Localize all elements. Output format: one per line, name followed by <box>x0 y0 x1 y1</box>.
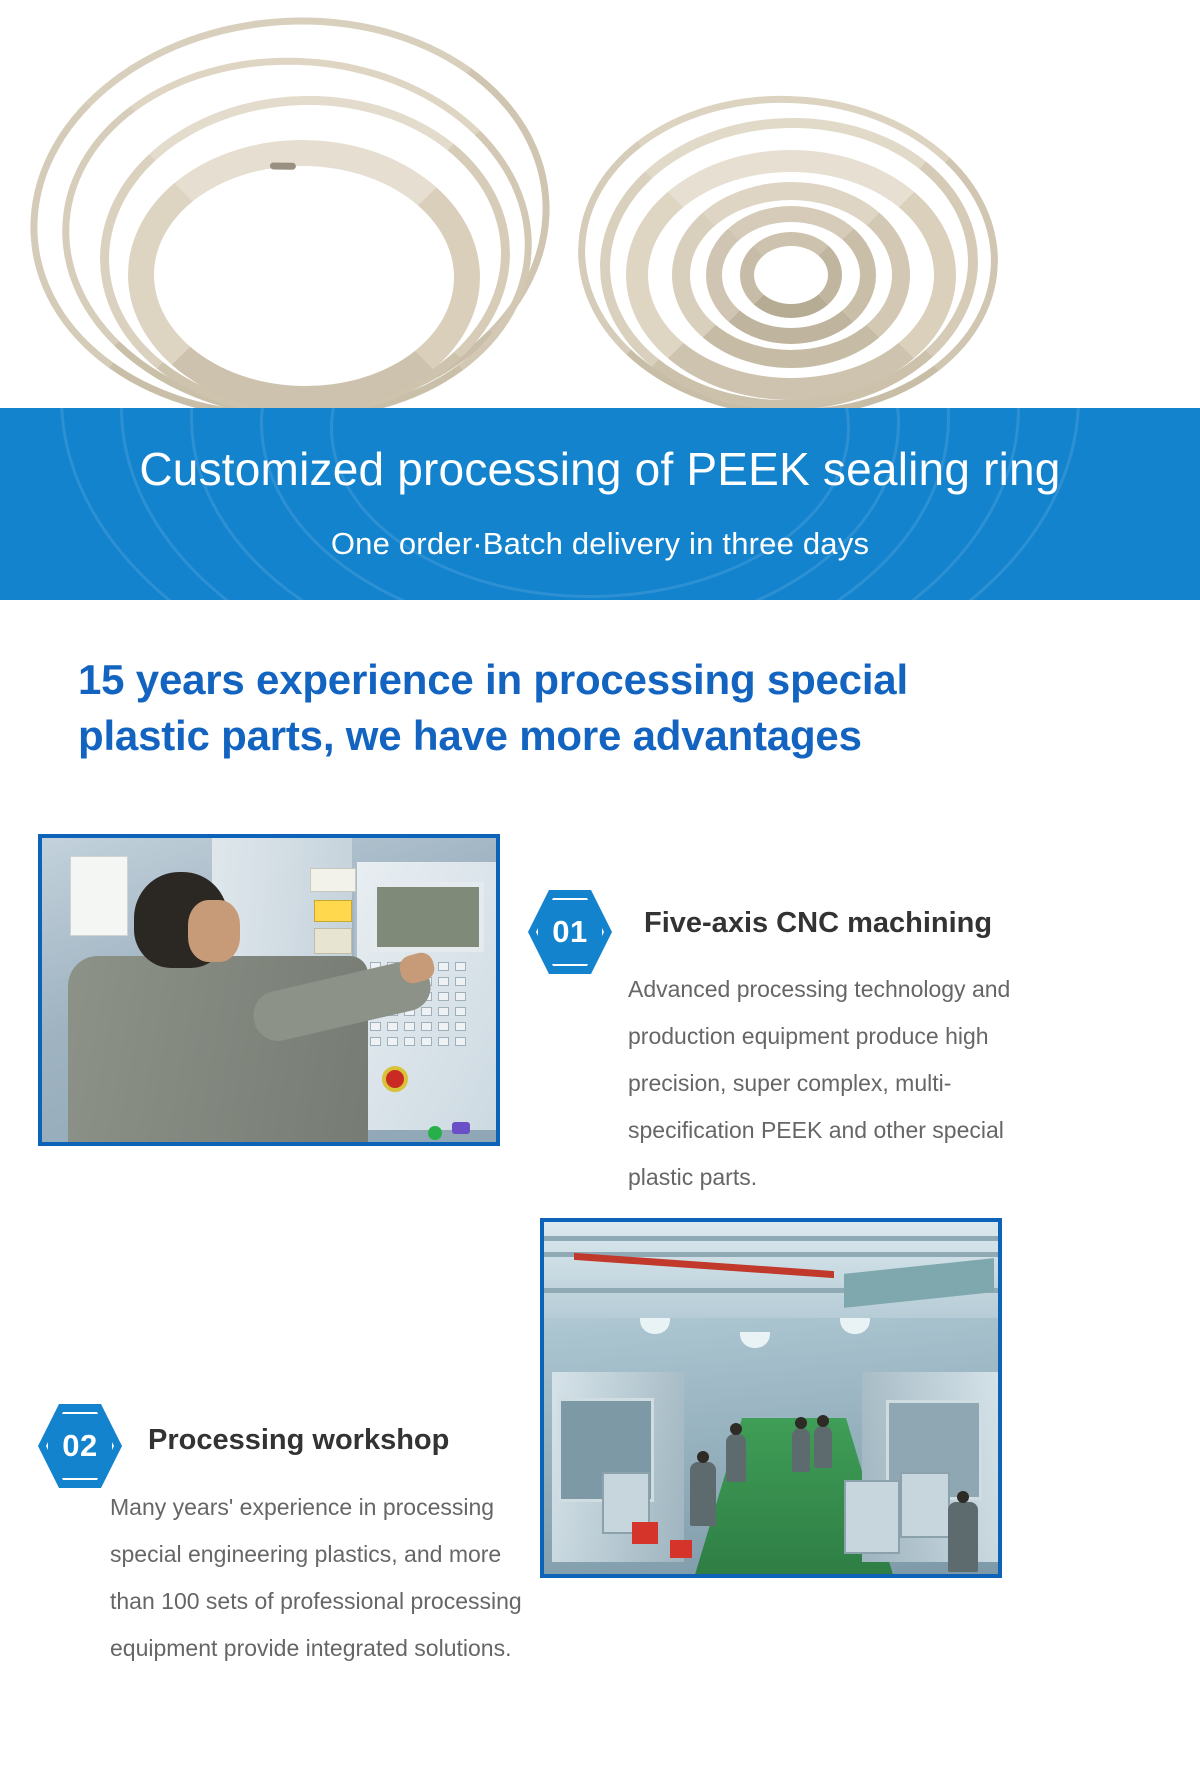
ceiling-beam <box>544 1236 1002 1241</box>
feature-01-title: Five-axis CNC machining <box>644 907 992 940</box>
indicator-lamp-green <box>428 1126 442 1140</box>
emergency-stop-button <box>382 1066 408 1092</box>
pendant-lamp <box>840 1318 870 1334</box>
worker-face <box>188 900 240 962</box>
feature-01-body: Advanced processing technology and produ… <box>628 966 1056 1201</box>
pendant-lamp <box>640 1318 670 1334</box>
feature-02-image <box>540 1218 1002 1578</box>
workshop-worker <box>690 1462 716 1526</box>
workshop-worker <box>948 1502 978 1572</box>
cnc-screen <box>372 882 484 952</box>
peek-ring-center-right <box>740 232 842 318</box>
section-heading-line-2: plastic parts, we have more advantages <box>78 712 862 759</box>
workshop-worker <box>726 1434 746 1482</box>
machine-label-white <box>310 868 356 892</box>
banner-title: Customized processing of PEEK sealing ri… <box>0 442 1200 496</box>
hero-product-image <box>0 0 1200 410</box>
section-heading: 15 years experience in processing specia… <box>78 652 1048 764</box>
workshop-worker <box>814 1426 832 1468</box>
workshop-worker <box>792 1428 810 1472</box>
trolley-cart <box>900 1472 950 1538</box>
feature-02-number: 02 <box>38 1404 122 1488</box>
feature-02-number-badge: 02 <box>38 1404 122 1488</box>
indicator-lamp-purple <box>452 1122 470 1134</box>
feature-01-number: 01 <box>528 890 612 974</box>
banner-subtitle: One order·Batch delivery in three days <box>0 526 1200 562</box>
trolley-cart <box>844 1480 900 1554</box>
section-heading-line-1: 15 years experience in processing specia… <box>78 656 908 703</box>
red-container <box>670 1540 692 1558</box>
pendant-lamp <box>740 1332 770 1348</box>
feature-02-body: Many years' experience in processing spe… <box>110 1484 528 1672</box>
feature-01-image <box>38 834 500 1146</box>
feature-02-title: Processing workshop <box>148 1424 449 1457</box>
wall-document <box>70 856 128 936</box>
product-detail-page: Customized processing of PEEK sealing ri… <box>0 0 1200 1773</box>
red-container <box>632 1522 658 1544</box>
machine-label-beige <box>314 928 352 954</box>
machine-label-yellow <box>314 900 352 922</box>
feature-01-number-badge: 01 <box>528 890 612 974</box>
banner: Customized processing of PEEK sealing ri… <box>0 408 1200 600</box>
